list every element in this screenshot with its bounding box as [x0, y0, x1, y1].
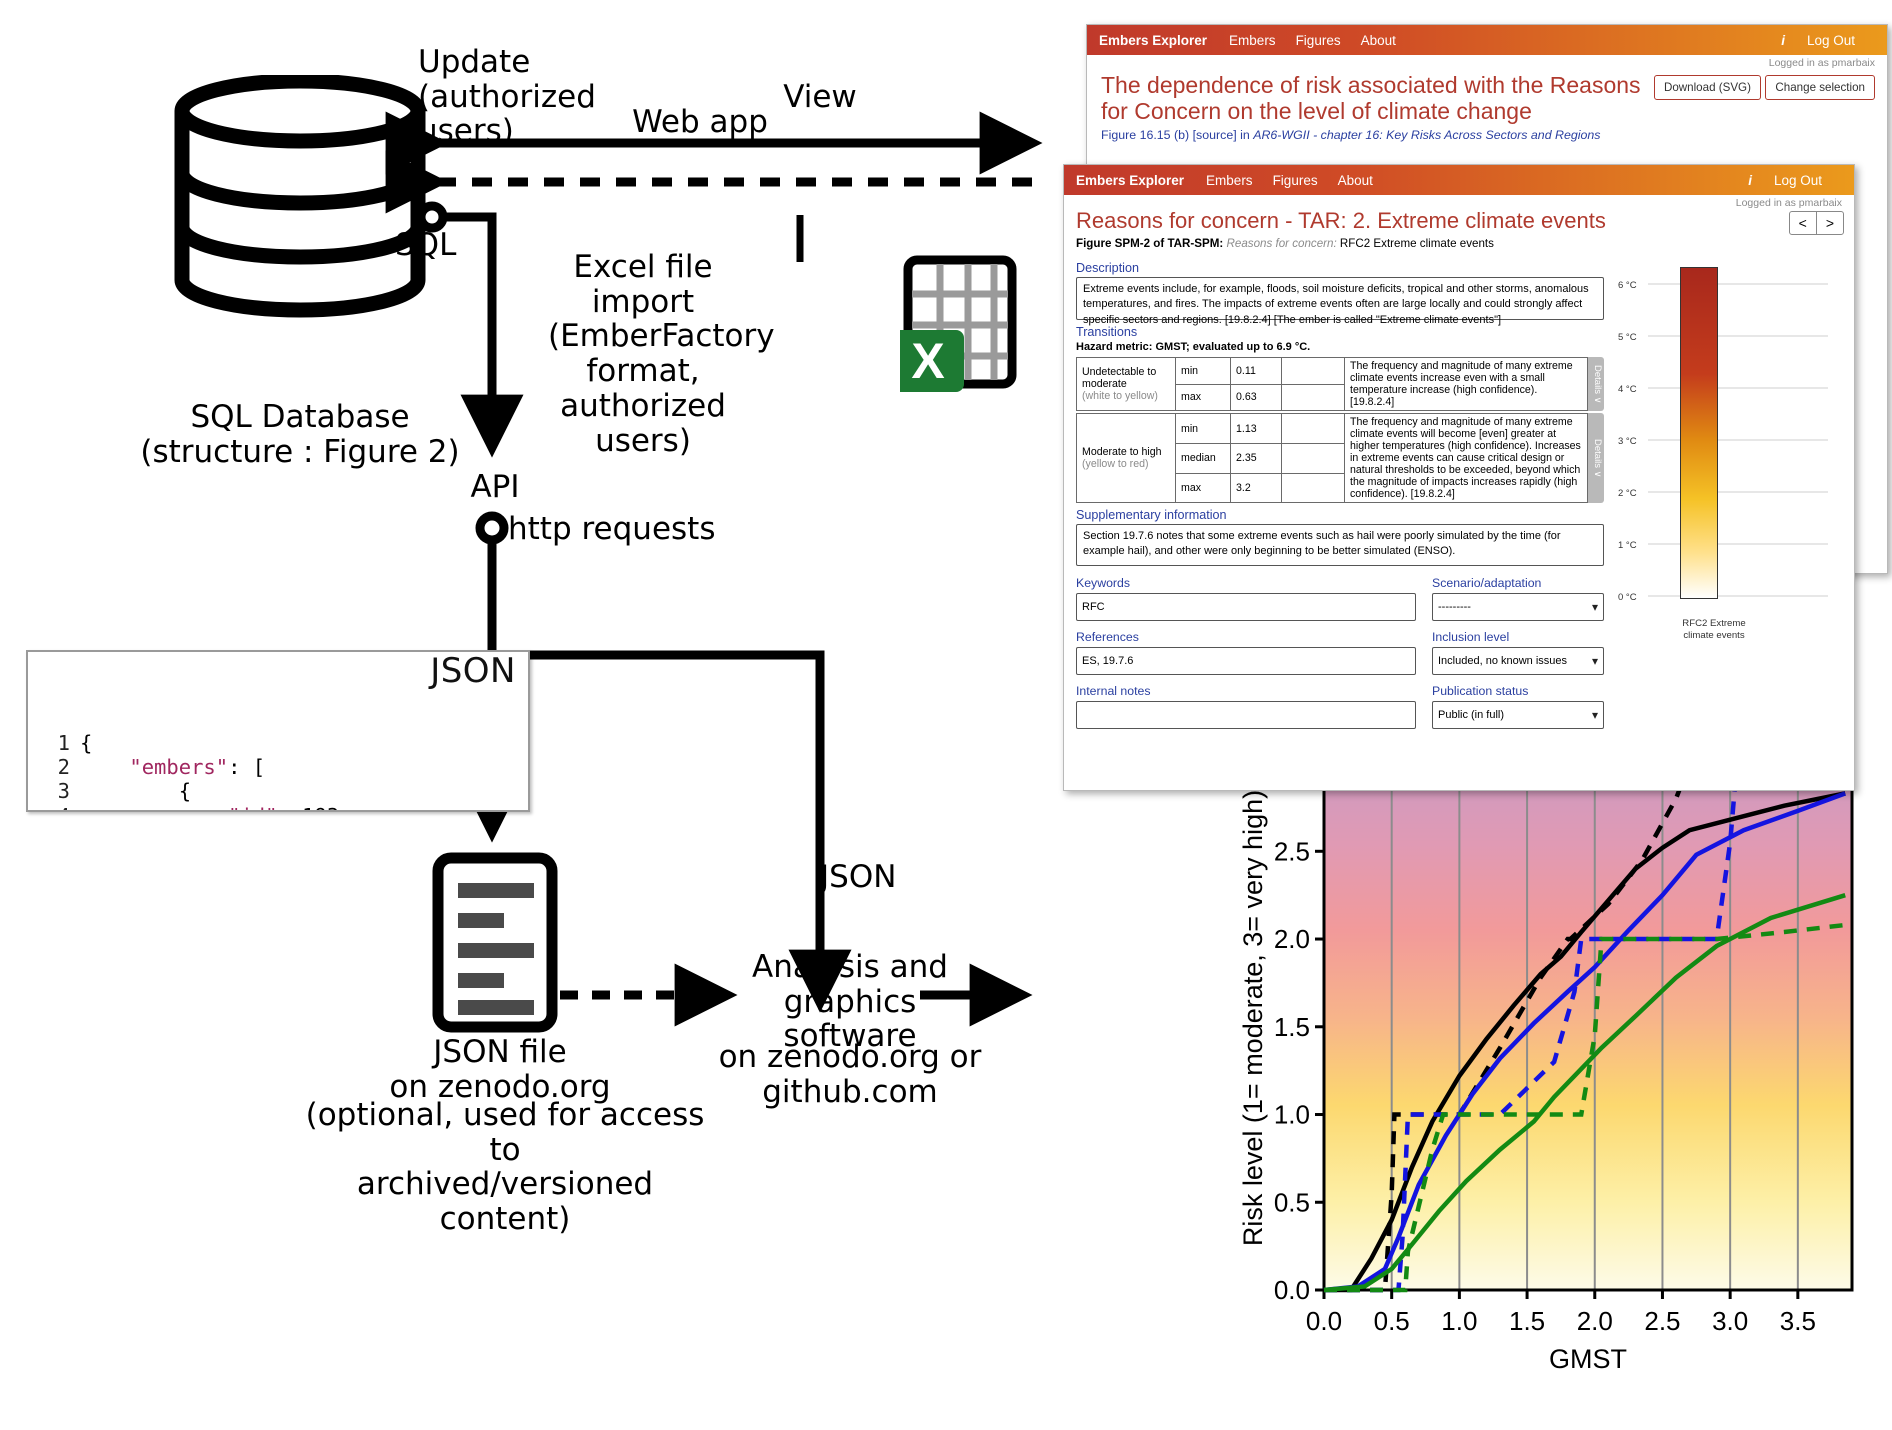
- transition-colors: (yellow to red): [1082, 458, 1170, 470]
- internal-notes-label: Internal notes: [1076, 684, 1416, 698]
- transition-value[interactable]: 1.13: [1231, 414, 1282, 444]
- y-tick-label: 2.5: [1274, 836, 1310, 866]
- transition-table-2: Moderate to high (yellow to red) min 1.1…: [1076, 413, 1588, 503]
- transition-text: The frequency and magnitude of many extr…: [1345, 358, 1588, 411]
- scenario-select[interactable]: --------- ▾: [1432, 593, 1604, 621]
- transition-name: Undetectable to moderate: [1082, 366, 1170, 390]
- sql-label: SQL: [395, 228, 485, 263]
- transition-key: min: [1176, 358, 1231, 385]
- x-axis-title: GMST: [1549, 1344, 1627, 1374]
- chevron-down-icon: ▾: [1592, 708, 1598, 722]
- keywords-input[interactable]: RFC: [1076, 593, 1416, 621]
- transition-key: max: [1176, 473, 1231, 503]
- next-ember-button[interactable]: >: [1817, 212, 1843, 234]
- nav-item-embers[interactable]: Embers: [1206, 173, 1253, 188]
- json-code-panel: JSON 1{2 "embers": [3 {4 "id": 193,5 "gr…: [26, 650, 530, 812]
- ember-tick: 2 °C: [1618, 488, 1637, 499]
- transition-value[interactable]: 3.2: [1231, 473, 1282, 503]
- inclusion-value: Included, no known issues: [1438, 655, 1567, 667]
- ember-caption: RFC2 Extreme climate events: [1654, 618, 1774, 641]
- publication-value: Public (in full): [1438, 709, 1504, 721]
- chevron-down-icon: ▾: [1592, 600, 1598, 614]
- transition-key: min: [1176, 414, 1231, 444]
- transition-blank: [1282, 358, 1345, 385]
- scenario-label: Scenario/adaptation: [1432, 576, 1604, 590]
- ember-tick: 3 °C: [1618, 436, 1637, 447]
- sql-database-icon: [170, 75, 430, 325]
- description-text[interactable]: Extreme events include, for example, flo…: [1076, 277, 1604, 320]
- embers-explorer-window-front[interactable]: Embers Explorer Embers Figures About i L…: [1063, 164, 1855, 791]
- risk-level-chart: 0.00.51.01.52.02.53.03.50.00.51.01.52.02…: [1236, 690, 1876, 1420]
- details-toggle[interactable]: Details ∨: [1588, 413, 1604, 503]
- logout-link[interactable]: Log Out: [1807, 33, 1855, 48]
- subtitle-bold: Figure SPM-2 of TAR-SPM:: [1076, 237, 1223, 250]
- excel-file-icon: X: [900, 252, 1020, 392]
- y-tick-label: 1.0: [1274, 1100, 1310, 1130]
- x-tick-label: 0.5: [1374, 1306, 1410, 1336]
- api-label: API: [440, 470, 550, 505]
- transition-colors: (white to yellow): [1082, 390, 1170, 402]
- transition-row: Undetectable to moderate (white to yello…: [1076, 357, 1604, 411]
- nav-brand[interactable]: Embers Explorer: [1099, 33, 1207, 48]
- sql-database-label: SQL Database (structure : Figure 2): [120, 400, 480, 469]
- json-code-line: 3 {: [36, 779, 528, 803]
- transition-row: Moderate to high (yellow to red) min 1.1…: [1076, 413, 1604, 503]
- svg-text:X: X: [911, 333, 944, 389]
- download-svg-button[interactable]: Download (SVG): [1654, 75, 1761, 100]
- x-tick-label: 2.0: [1577, 1306, 1613, 1336]
- ember-tick: 0 °C: [1618, 592, 1637, 603]
- logout-link[interactable]: Log Out: [1774, 173, 1822, 188]
- change-selection-button[interactable]: Change selection: [1765, 75, 1875, 100]
- transition-blank: [1282, 414, 1345, 444]
- y-tick-label: 2.0: [1274, 924, 1310, 954]
- y-tick-label: 1.5: [1274, 1012, 1310, 1042]
- json-panel-title: JSON: [430, 659, 516, 683]
- db-label-line1: SQL Database: [120, 400, 480, 435]
- details-toggle[interactable]: Details ∨: [1588, 357, 1604, 411]
- page-subtitle: Figure 16.15 (b) [source] in AR6-WGII - …: [1087, 125, 1654, 148]
- transition-blank: [1282, 384, 1345, 411]
- transition-key: max: [1176, 384, 1231, 411]
- publication-select[interactable]: Public (in full) ▾: [1432, 701, 1604, 729]
- page-title: The dependence of risk associated with t…: [1087, 69, 1654, 125]
- supplementary-label: Supplementary information: [1076, 508, 1604, 522]
- navbar-back[interactable]: Embers Explorer Embers Figures About i L…: [1087, 25, 1887, 55]
- http-requests-label: http requests: [508, 512, 738, 547]
- transition-blank: [1282, 443, 1345, 473]
- nav-item-figures[interactable]: Figures: [1273, 173, 1318, 188]
- supplementary-text[interactable]: Section 19.7.6 notes that some extreme e…: [1076, 524, 1604, 566]
- json-file-label: JSON file on zenodo.org: [360, 1035, 640, 1104]
- navbar-front[interactable]: Embers Explorer Embers Figures About i L…: [1064, 165, 1854, 195]
- x-tick-label: 3.5: [1780, 1306, 1816, 1336]
- transition-text: The frequency and magnitude of many extr…: [1345, 414, 1588, 503]
- scenario-value: ---------: [1438, 601, 1471, 613]
- x-tick-label: 3.0: [1712, 1306, 1748, 1336]
- references-input[interactable]: ES, 19.7.6: [1076, 647, 1416, 675]
- ember-tick: 1 °C: [1618, 540, 1637, 551]
- inclusion-label: Inclusion level: [1432, 630, 1604, 644]
- transition-table-1: Undetectable to moderate (white to yello…: [1076, 357, 1588, 411]
- json-code-lines: JSON 1{2 "embers": [3 {4 "id": 193,5 "gr…: [28, 652, 528, 812]
- ember-tick: 5 °C: [1618, 332, 1637, 343]
- ember-tick: 6 °C: [1618, 280, 1637, 291]
- nav-item-figures[interactable]: Figures: [1296, 33, 1341, 48]
- db-label-line2: (structure : Figure 2): [120, 435, 480, 470]
- transition-value[interactable]: 0.63: [1231, 384, 1282, 411]
- analysis-software-sub: on zenodo.org or github.com: [715, 1040, 985, 1109]
- x-tick-label: 2.5: [1644, 1306, 1680, 1336]
- ember-tick: 4 °C: [1618, 384, 1637, 395]
- json-code-line: 4 "id": 193,: [36, 804, 528, 812]
- publication-label: Publication status: [1432, 684, 1604, 698]
- ember-colorbar: [1680, 267, 1718, 599]
- excel-import-label: Excel file import (EmberFactory format, …: [548, 250, 738, 458]
- logged-in-text: Logged in as pmarbaix: [1087, 55, 1887, 69]
- transition-name: Moderate to high: [1082, 446, 1170, 458]
- x-tick-label: 1.5: [1509, 1306, 1545, 1336]
- description-label: Description: [1076, 261, 1604, 275]
- info-icon[interactable]: i: [1781, 33, 1785, 48]
- y-axis-title: Risk level (1= moderate, 3= very high): [1238, 790, 1268, 1246]
- view-label: View: [760, 80, 880, 115]
- x-tick-label: 0.0: [1306, 1306, 1342, 1336]
- json-code-line: 1{: [36, 731, 528, 755]
- ember-preview: 6 °C 5 °C 4 °C 3 °C 2 °C 1 °C 0 °C: [1604, 256, 1844, 729]
- page-subtitle: Figure SPM-2 of TAR-SPM: Reasons for con…: [1076, 237, 1789, 250]
- subtitle-italic: Reasons for concern:: [1223, 237, 1336, 250]
- nav-item-about[interactable]: About: [1361, 33, 1396, 48]
- chevron-down-icon: ▾: [1592, 654, 1598, 668]
- subtitle-italic: AR6-WGII - chapter 16: Key Risks Across …: [1253, 128, 1600, 142]
- hazard-metric: Hazard metric: GMST; evaluated up to 6.9…: [1076, 341, 1604, 353]
- internal-notes-input[interactable]: [1076, 701, 1416, 729]
- y-tick-label: 0.0: [1274, 1275, 1310, 1305]
- transition-value[interactable]: 0.11: [1231, 358, 1282, 385]
- update-label: Update (authorized users): [418, 45, 628, 149]
- json-code-line: 2 "embers": [: [36, 755, 528, 779]
- keywords-label: Keywords: [1076, 576, 1416, 590]
- json-file-icon: [430, 850, 560, 1035]
- y-tick-label: 0.5: [1274, 1187, 1310, 1217]
- transition-key: median: [1176, 443, 1231, 473]
- json-arrow-label: JSON: [820, 860, 940, 895]
- nav-item-about[interactable]: About: [1338, 173, 1373, 188]
- inclusion-select[interactable]: Included, no known issues ▾: [1432, 647, 1604, 675]
- x-tick-label: 1.0: [1441, 1306, 1477, 1336]
- info-icon[interactable]: i: [1748, 173, 1752, 188]
- subtitle-rest: RFC2 Extreme climate events: [1337, 237, 1494, 250]
- page-title: Reasons for concern - TAR: 2. Extreme cl…: [1076, 209, 1789, 233]
- nav-brand[interactable]: Embers Explorer: [1076, 173, 1184, 188]
- json-file-note: (optional, used for access to archived/v…: [290, 1098, 720, 1237]
- transition-value[interactable]: 2.35: [1231, 443, 1282, 473]
- transition-blank: [1282, 473, 1345, 503]
- prev-ember-button[interactable]: <: [1790, 212, 1817, 234]
- logged-in-text: Logged in as pmarbaix: [1064, 195, 1854, 209]
- subtitle-prefix: Figure 16.15 (b) [source] in: [1101, 128, 1253, 142]
- references-label: References: [1076, 630, 1416, 644]
- nav-item-embers[interactable]: Embers: [1229, 33, 1276, 48]
